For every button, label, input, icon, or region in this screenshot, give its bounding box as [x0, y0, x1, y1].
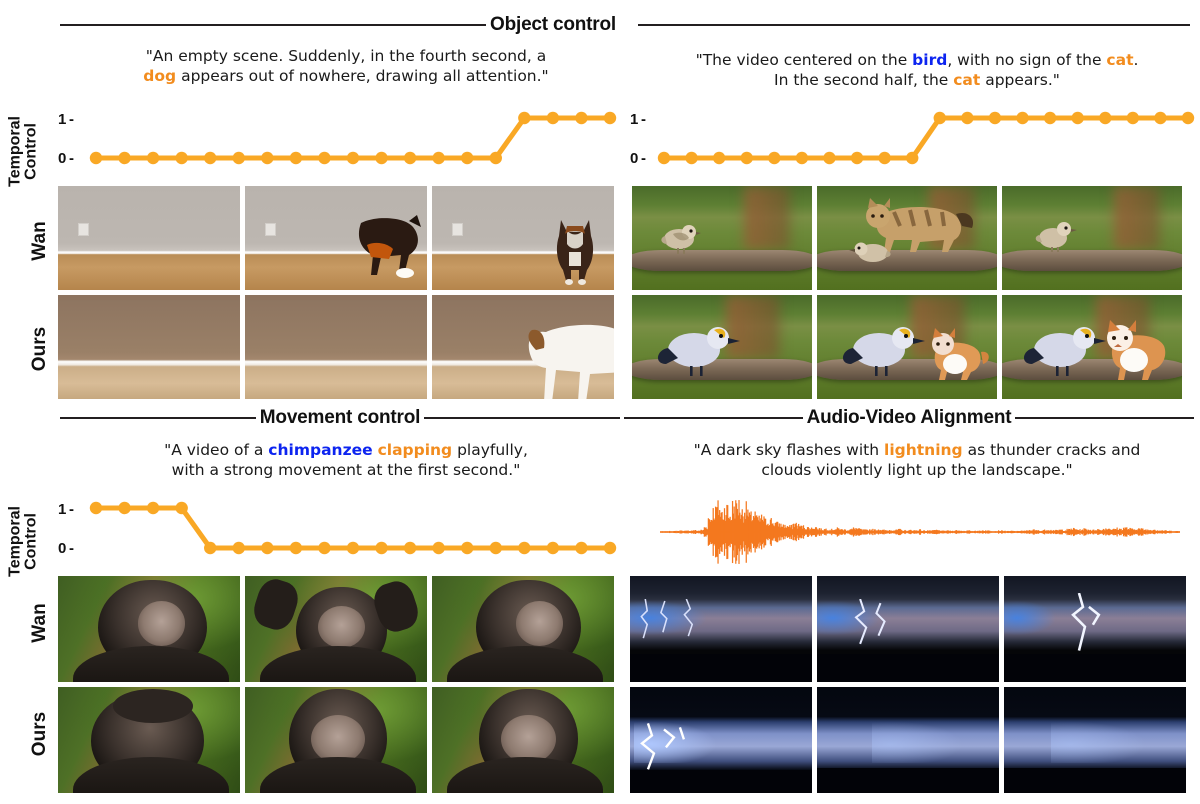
chimp-face [311, 715, 366, 764]
prompt-keyword-bird: bird [912, 51, 947, 69]
prompt-keyword-clapping: clapping [378, 441, 453, 459]
chart-object-control: 1 - 0 - [58, 106, 618, 178]
lightning-bolt [634, 599, 725, 650]
video-frame[interactable] [58, 687, 240, 793]
video-frame[interactable] [1004, 576, 1186, 682]
chimp-face [318, 606, 365, 648]
background-blur [1114, 186, 1161, 250]
chimp-body [447, 646, 604, 682]
video-frame[interactable] [58, 576, 240, 682]
prompt-seg: clouds violently light up the landscape.… [761, 461, 1072, 479]
frame-row-ours-movement [58, 687, 614, 793]
header-rule-left [60, 24, 486, 26]
background-blur [744, 186, 791, 250]
prompt-seg: In the second half, the [774, 71, 953, 89]
ytick-1-dash-tr: - [641, 111, 646, 128]
frame-row-wan-audio [630, 576, 1186, 682]
audio-waveform [660, 492, 1180, 572]
white-dog-standing [512, 310, 614, 399]
chimp-arm-left-raised [249, 576, 302, 634]
frame-row-wan-movement [58, 576, 614, 682]
row-label-temporal-control-bl: Temporal Control [8, 498, 41, 584]
chimp-body [447, 757, 604, 793]
small-bird [657, 220, 701, 256]
prompt-object-control: "An empty scene. Suddenly, in the fourth… [66, 46, 626, 86]
section-title-object-control: Object control [486, 14, 620, 36]
lightning-glow [872, 721, 963, 763]
row-label-temporal-control-tl: Temporal Control [8, 108, 41, 194]
orange-kitten [921, 328, 991, 380]
prompt-seg: "A dark sky flashes with [694, 441, 884, 459]
frame-row-ours-object-control [58, 295, 614, 399]
prompt-line-2b: appears out of nowhere, drawing all atte… [176, 67, 549, 85]
ytick-0-dash-tr: - [641, 150, 646, 167]
chimp-body [73, 757, 230, 793]
prompt-seg: as thunder cracks and [963, 441, 1141, 459]
prompt-keyword-cat-2: cat [953, 71, 980, 89]
prompt-seg: . [1133, 51, 1138, 69]
dog-running-silhouette [347, 215, 427, 289]
row-label-ours-tl: Ours [29, 319, 51, 379]
section-header-movement-control: Movement control [60, 407, 620, 429]
row-label-wan-bl: Wan [29, 593, 51, 653]
prompt-line-1: "An empty scene. Suddenly, in the fourth… [146, 47, 547, 65]
header-rule-right [1015, 417, 1194, 419]
lightning-bolt [839, 599, 912, 652]
video-frame[interactable] [58, 295, 240, 399]
branch-shape [1002, 250, 1182, 271]
video-frame[interactable] [632, 186, 812, 290]
wall-switch-icon [452, 223, 463, 236]
prompt-keyword-dog: dog [143, 67, 176, 85]
video-frame[interactable] [817, 576, 999, 682]
prompt-movement-control: "A video of a chimpanzee clapping playfu… [66, 440, 626, 480]
chimp-body [260, 757, 417, 793]
section-header-object-control-right: x [620, 14, 1190, 36]
ytick-1-tr: 1 [630, 111, 638, 128]
white-bird [839, 322, 925, 380]
horizon-ground [630, 654, 812, 682]
ytick-1-dash-bl: - [69, 501, 74, 518]
ytick-0-bl: 0 [58, 540, 66, 557]
frame-row-wan-object-control [58, 186, 614, 290]
video-frame[interactable] [432, 576, 614, 682]
prompt-seg: , with no sign of the [947, 51, 1106, 69]
video-frame[interactable] [245, 295, 427, 399]
ytick-0-dash-bl: - [69, 540, 74, 557]
horizon-ground [817, 654, 999, 682]
lightning-bolt [634, 723, 696, 772]
figure-root: Object control "An empty scene. Suddenly… [0, 0, 1200, 804]
ytick-0-dash-tl: - [69, 150, 74, 167]
video-frame[interactable] [245, 576, 427, 682]
video-frame[interactable] [432, 687, 614, 793]
lightning-bolt [1055, 593, 1117, 654]
video-frame[interactable] [245, 186, 427, 290]
section-title-movement-control: Movement control [256, 407, 424, 429]
video-frame[interactable] [1004, 687, 1186, 793]
video-frame[interactable] [432, 186, 614, 290]
chart-bird-cat: 1 - 0 - [628, 106, 1194, 178]
prompt-seg: playfully, [452, 441, 528, 459]
header-rule-right [638, 24, 1190, 26]
row-label-wan-tl: Wan [29, 211, 51, 271]
prompt-seg: with a strong movement at the first seco… [172, 461, 521, 479]
prompt-keyword-cat-1: cat [1106, 51, 1133, 69]
section-header-object-control: Object control [60, 14, 620, 36]
white-bird [1020, 322, 1106, 380]
chimp-hands-covering-face [113, 689, 193, 723]
prompt-seg: "A video of a [164, 441, 268, 459]
prompt-seg: appears." [980, 71, 1060, 89]
section-header-audio-video: Audio-Video Alignment [624, 407, 1194, 429]
blue-sky-glow [1004, 601, 1055, 635]
small-bird [849, 234, 893, 270]
video-frame[interactable] [1002, 186, 1182, 290]
video-frame[interactable] [58, 186, 240, 290]
frame-row-wan-bird-cat [632, 186, 1182, 290]
video-frame[interactable] [817, 687, 999, 793]
small-bird [1033, 217, 1077, 253]
ytick-1-bl: 1 [58, 501, 66, 518]
dog-standing-front [545, 214, 605, 286]
ytick-0-tr: 0 [630, 150, 638, 167]
orange-kitten [1096, 318, 1178, 382]
wall-switch-icon [78, 223, 89, 236]
header-rule-left [624, 417, 803, 419]
row-label-ours-bl: Ours [29, 704, 51, 764]
prompt-keyword-chimpanzee: chimpanzee [268, 441, 372, 459]
step-plot-bird-cat [656, 106, 1196, 178]
video-frame[interactable] [432, 295, 614, 399]
chimp-body [73, 646, 230, 682]
prompt-bird-cat: "The video centered on the bird, with no… [628, 50, 1200, 90]
lightning-glow [1051, 721, 1146, 763]
horizon-ground [817, 768, 999, 793]
frame-row-ours-bird-cat [632, 295, 1182, 399]
prompt-seg: "The video centered on the [696, 51, 913, 69]
video-frame[interactable] [245, 687, 427, 793]
step-plot-movement-control [88, 496, 618, 568]
chimp-body [260, 646, 417, 682]
prompt-audio-video: "A dark sky flashes with lightning as th… [628, 440, 1200, 480]
video-frame[interactable] [817, 186, 997, 290]
chimp-face [501, 715, 556, 764]
wall-switch-icon [265, 223, 276, 236]
white-bird [654, 322, 740, 380]
chimp-face [138, 601, 185, 646]
prompt-keyword-lightning: lightning [884, 441, 963, 459]
step-plot-object-control [88, 106, 618, 178]
ytick-1-dash-tl: - [69, 111, 74, 128]
chimp-face [516, 601, 563, 646]
video-frame[interactable] [630, 687, 812, 793]
horizon-ground [1004, 654, 1186, 682]
header-rule-right [424, 417, 620, 419]
header-rule-left [60, 417, 256, 419]
chart-movement-control: 1 - 0 - [58, 496, 618, 568]
ytick-1-tl: 1 [58, 111, 66, 128]
video-frame[interactable] [630, 576, 812, 682]
horizon-ground [1004, 768, 1186, 793]
frame-row-ours-audio [630, 687, 1186, 793]
horizon-ground [630, 770, 812, 793]
ytick-0-tl: 0 [58, 150, 66, 167]
section-title-audio-video: Audio-Video Alignment [803, 407, 1016, 429]
video-frame[interactable] [1002, 295, 1182, 399]
video-frame[interactable] [817, 295, 997, 399]
video-frame[interactable] [632, 295, 812, 399]
